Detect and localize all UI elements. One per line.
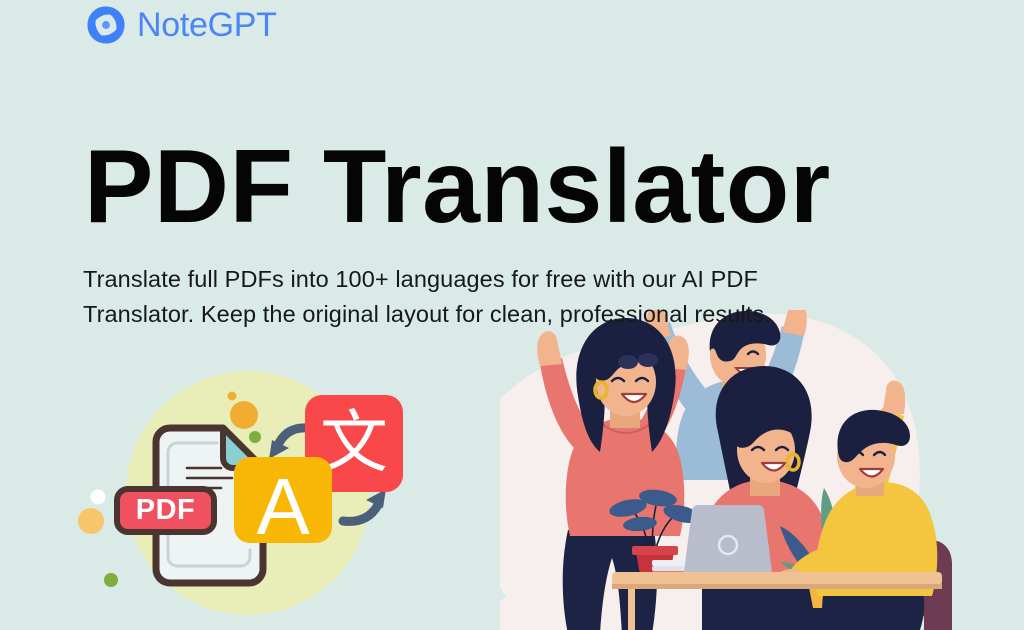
office-chair-seat: [858, 596, 940, 616]
seated-man-torso: [815, 482, 937, 596]
standing-woman-mouth: [622, 394, 646, 402]
red-plant-leaf-3: [662, 502, 703, 527]
back-man-eye-left: [724, 352, 734, 355]
brand-name: NoteGPT: [137, 8, 277, 42]
person-woman-standing-cheering: [537, 318, 689, 630]
yellow-plant-leaf-4: [840, 544, 884, 578]
standing-woman-neck: [610, 404, 640, 428]
seated-man-hand: [882, 381, 905, 415]
book-stack: [652, 560, 702, 576]
pdf-fold-corner: [223, 428, 263, 468]
gold-hoop-earring: [595, 382, 607, 398]
seated-man-head: [837, 424, 895, 488]
standing-woman-eye-right: [636, 378, 648, 381]
red-plant-leaf-2: [638, 487, 678, 508]
desk-top: [612, 572, 942, 586]
laptop-woman-eye-left: [752, 447, 764, 450]
yellow-plant-leaf-3: [780, 526, 824, 578]
arrow-head-left: [269, 440, 289, 459]
back-man-neck: [722, 372, 750, 396]
laptop-woman-torso: [699, 480, 830, 578]
back-man-mouth: [736, 368, 756, 374]
back-man-torso: [676, 380, 792, 480]
desk-edge: [612, 584, 942, 589]
pdf-badge-label: PDF: [136, 494, 196, 526]
dot-amber-bottom: [231, 536, 245, 550]
laptop-woman-eye-right: [776, 447, 788, 450]
laptop: [684, 505, 772, 572]
standing-woman-torso: [566, 418, 685, 536]
standing-woman-left-arm: [540, 358, 594, 450]
person-man-seated-cheering: [776, 381, 952, 630]
back-man-left-arm: [648, 322, 710, 412]
potted-plant-yellow: [780, 488, 884, 608]
target-language-card: 文: [305, 395, 403, 492]
standing-woman-right-arm: [632, 362, 686, 450]
laptop-logo-icon: [719, 536, 737, 554]
laptop-woman-neck: [750, 470, 780, 496]
source-card-glyph: A: [256, 462, 310, 551]
spiral-swirl-icon: [84, 3, 128, 47]
seated-man-desk-hand: [776, 569, 808, 587]
arrow-left-to-right: [343, 505, 378, 521]
sunglasses-icon: [618, 353, 658, 369]
yellow-plant-leaf-5: [780, 562, 820, 578]
dot-white-left: [91, 490, 106, 505]
seated-man-neck: [856, 474, 884, 496]
seated-man-arm: [850, 408, 904, 512]
seated-man-hair: [837, 410, 910, 462]
standing-woman-hair-front: [595, 330, 668, 381]
seated-man-eye-left: [852, 452, 863, 455]
source-language-card: A: [234, 457, 332, 551]
translation-arrows: [277, 428, 378, 522]
seated-man-eye-right: [874, 452, 885, 455]
laptop-woman-mouth: [762, 463, 785, 471]
dot-white-right: [225, 455, 236, 466]
dot-amber-left: [78, 508, 104, 534]
standing-woman-legs: [563, 530, 657, 630]
standing-woman-eye-left: [612, 378, 624, 381]
red-plant-pot-rim: [632, 546, 678, 555]
pdf-text-lines: [187, 468, 232, 488]
yellow-plant-leaf-2: [836, 506, 864, 578]
person-woman-at-laptop: [699, 366, 830, 630]
laptop-woman-legs: [702, 586, 828, 630]
red-plant-pot: [636, 552, 674, 580]
potted-plant-red: [608, 487, 703, 580]
yellow-plant-pot-rim: [802, 566, 868, 576]
pdf-document-icon: PDF: [117, 428, 263, 583]
dot-green-bottom: [104, 573, 118, 587]
desk: [612, 572, 942, 630]
page-title: PDF Translator: [84, 132, 831, 242]
hero-banner: PDF 文 A: [0, 0, 1024, 630]
office-chair-stem: [892, 616, 906, 630]
pdf-page-shape: [156, 428, 263, 583]
seated-man-forearm: [788, 546, 838, 588]
pdf-badge: [117, 489, 214, 532]
seated-man-mouth: [860, 469, 883, 477]
target-card-glyph: 文: [320, 404, 388, 483]
standing-woman-hair-back: [576, 318, 675, 452]
standing-woman-collar: [602, 424, 650, 433]
yellow-plant-pot: [806, 572, 864, 608]
laptop-woman-head: [737, 417, 795, 483]
back-man-eye-right: [748, 352, 758, 355]
dot-orange-large: [230, 401, 258, 429]
red-plant-leaf-4: [622, 515, 657, 532]
standing-woman-head: [596, 348, 656, 416]
backdrop-circle: [126, 371, 370, 615]
laptop-woman-hand: [702, 563, 728, 581]
yellow-plant-leaf-1: [821, 488, 838, 578]
laptop-woman-hair-front: [736, 400, 807, 448]
standing-woman-left-hand: [537, 331, 562, 366]
arrow-head-right: [366, 489, 386, 508]
laptop-woman-hair-back: [716, 366, 812, 510]
dot-green-top: [249, 431, 261, 443]
laptop-woman-arm: [704, 534, 730, 570]
seated-man-legs: [822, 565, 924, 630]
red-plant-stems: [632, 506, 676, 556]
backdrop-blob: [464, 313, 920, 630]
office-chair-back: [923, 540, 953, 630]
red-plant-leaf-1: [608, 496, 648, 520]
desk-leg-left: [628, 589, 635, 630]
dot-orange-small: [228, 392, 237, 401]
brand-logo[interactable]: NoteGPT: [84, 2, 277, 48]
pdf-inner-frame: [168, 443, 250, 566]
standing-woman-right-hand: [664, 336, 689, 370]
laptop-lid: [684, 505, 772, 572]
back-man-right-arm: [750, 326, 804, 412]
page-description: Translate full PDFs into 100+ languages …: [83, 262, 828, 334]
arrow-right-to-left: [277, 428, 308, 447]
laptop-woman-earring: [787, 454, 799, 470]
